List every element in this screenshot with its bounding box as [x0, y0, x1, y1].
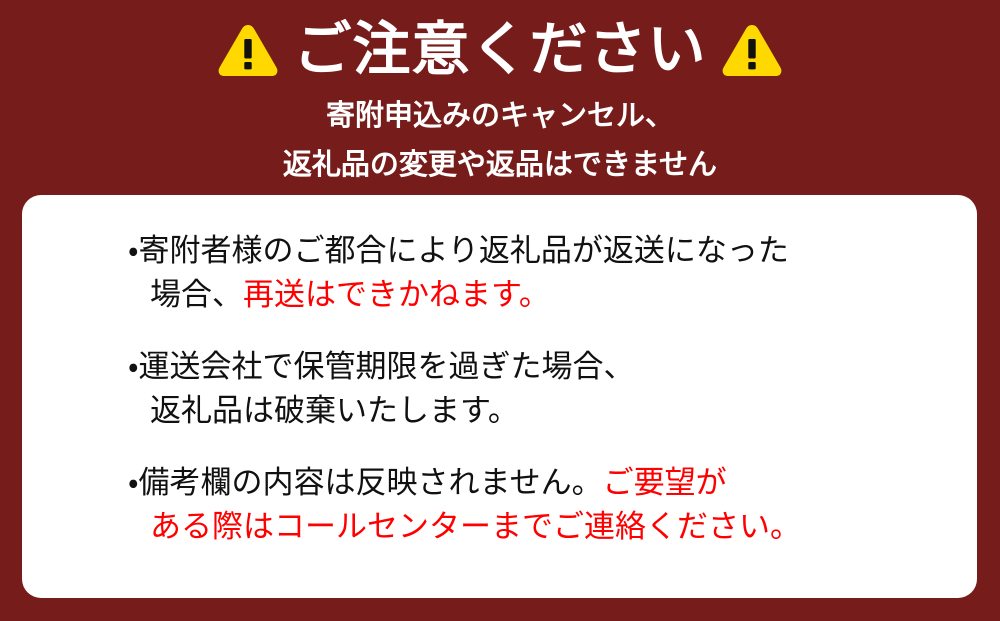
- notice-line: 返礼品は破棄いたします。: [150, 389, 977, 433]
- notice-text: 場合、: [150, 277, 243, 312]
- notice-line: ・備考欄の内容は反映されません。ご要望が: [150, 461, 977, 505]
- notice-item: ・備考欄の内容は反映されません。ご要望がある際はコールセンターまでご連絡ください…: [22, 461, 977, 549]
- subtitle-line-1: 寄附申込みのキャンセル、: [0, 102, 1000, 131]
- bullet-dot-icon: ・: [128, 233, 139, 268]
- notice-banner: ご注意ください 寄附申込みのキャンセル、 返礼品の変更や返品はできません ・寄附…: [0, 0, 1000, 621]
- notice-text-emphasis: 再送はできかねます。: [243, 277, 550, 312]
- notice-line: ・寄附者様のご都合により返礼品が返送になった: [150, 229, 977, 273]
- notice-text: 返礼品は破棄いたします。: [150, 393, 519, 428]
- bullet-dot-icon: ・: [128, 465, 139, 500]
- notice-text-emphasis: ある際はコールセンターまでご連絡ください。: [150, 509, 801, 544]
- notice-text-emphasis: ご要望が: [603, 465, 727, 500]
- notice-line: ・運送会社で保管期限を過ぎた場合、: [150, 345, 977, 389]
- notice-text: 運送会社で保管期限を過ぎた場合、: [139, 349, 635, 384]
- notice-item: ・運送会社で保管期限を過ぎた場合、返礼品は破棄いたします。: [22, 345, 977, 433]
- headline-row: ご注意ください: [0, 0, 1000, 88]
- notice-item: ・寄附者様のご都合により返礼品が返送になった場合、再送はできかねます。: [22, 229, 977, 317]
- notice-line: ある際はコールセンターまでご連絡ください。: [150, 505, 977, 549]
- warning-triangle-icon: [721, 22, 783, 78]
- headline-text: ご注意ください: [293, 21, 706, 79]
- bullet-dot-icon: ・: [128, 349, 139, 384]
- notice-line: 場合、再送はできかねます。: [150, 273, 977, 317]
- notice-card: ・寄附者様のご都合により返礼品が返送になった場合、再送はできかねます。・運送会社…: [22, 195, 977, 598]
- warning-triangle-icon: [217, 22, 279, 78]
- notice-list: ・寄附者様のご都合により返礼品が返送になった場合、再送はできかねます。・運送会社…: [22, 229, 977, 549]
- notice-text: 備考欄の内容は反映されません。: [139, 465, 603, 500]
- notice-text: 寄附者様のご都合により返礼品が返送になった: [139, 233, 789, 268]
- banner-header: ご注意ください 寄附申込みのキャンセル、 返礼品の変更や返品はできません: [0, 0, 1000, 180]
- subtitle-line-2: 返礼品の変更や返品はできません: [0, 151, 1000, 180]
